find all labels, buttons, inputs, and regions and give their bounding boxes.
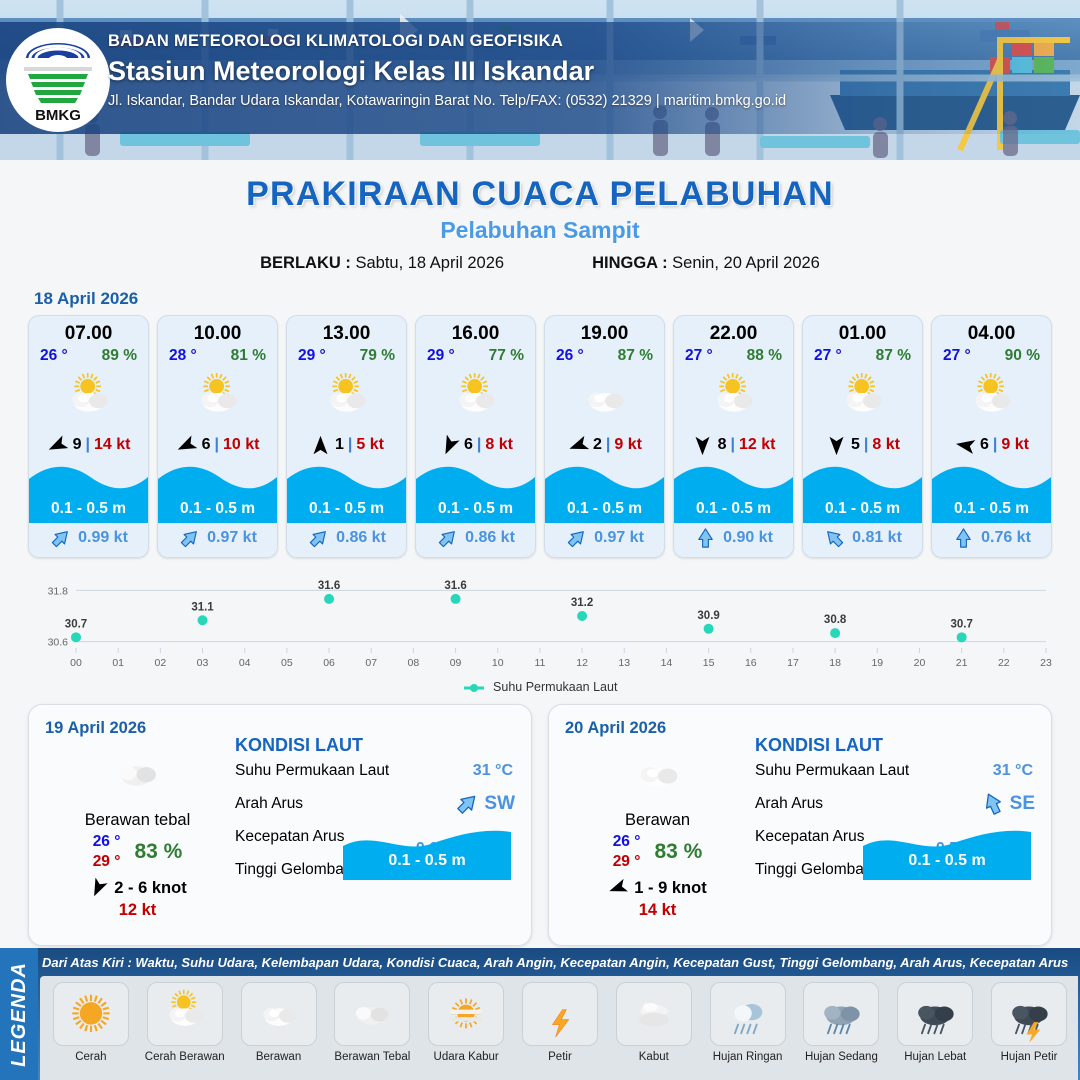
- panel-sea-block: KONDISI LAUT Suhu Permukaan Laut 31 °C A…: [755, 735, 1039, 894]
- wind-speed: 1: [335, 436, 344, 454]
- svg-text:23: 23: [1040, 657, 1052, 669]
- sea-condition-title: KONDISI LAUT: [755, 735, 1039, 756]
- temp-humidity-row: 27 ° 90 %: [932, 345, 1051, 365]
- wave-height: 0.1 - 0.5 m: [416, 500, 535, 518]
- wind-speed: 8: [718, 436, 727, 454]
- panel-condition: Berawan tebal: [45, 811, 230, 830]
- wind-separator: |: [606, 436, 610, 454]
- wind-arrow-slot: [825, 434, 847, 456]
- weather-icon-slot: [287, 367, 406, 431]
- legend-tab: LEGENDA: [0, 948, 38, 1080]
- bmkg-logo: BMKG: [6, 28, 110, 132]
- panel-weather-block: Berawan 26 ° 29 ° 83 % 1 - 9 knot 14 kt: [565, 743, 750, 920]
- cerah-berawan-icon: [704, 369, 764, 429]
- panel-temp-humidity: 26 ° 29 ° 83 %: [45, 832, 230, 872]
- berlaku-value: Sabtu, 18 April 2026: [355, 254, 504, 272]
- forecast-time: 19.00: [545, 323, 664, 345]
- weather-icon-slot: [674, 367, 793, 431]
- berawan-tebal-icon: [107, 743, 169, 805]
- svg-text:22: 22: [998, 657, 1010, 669]
- forecast-card: 01.00 27 ° 87 % 5 | 8 kt 0.1 - 0.5 m 0.8…: [802, 315, 923, 558]
- daily-panel-list: 19 April 2026 Berawan tebal 26 ° 29 ° 83…: [0, 694, 1080, 946]
- current-direction-arrow: [307, 527, 330, 550]
- panel-wind-row: 2 - 6 knot: [45, 878, 230, 898]
- wind-row: 6 | 10 kt: [158, 431, 277, 461]
- wind-separator: |: [85, 436, 89, 454]
- forecast-time: 07.00: [29, 323, 148, 345]
- berawan-icon: [251, 986, 307, 1042]
- legend-icon-tile: [428, 982, 504, 1046]
- hujan-ringan-icon: [720, 986, 776, 1042]
- temp-humidity-row: 26 ° 89 %: [29, 345, 148, 365]
- wind-direction-arrow: [310, 435, 331, 456]
- hingga-group: HINGGA : Senin, 20 April 2026: [592, 254, 820, 273]
- wind-separator: |: [477, 436, 481, 454]
- legend-item: Hujan Sedang: [797, 982, 887, 1080]
- wind-speed: 6: [202, 436, 211, 454]
- title-block: PRAKIRAAN CUACA PELABUHAN Pelabuhan Samp…: [0, 160, 1080, 273]
- wind-speed: 5: [851, 436, 860, 454]
- wind-speed: 2: [593, 436, 602, 454]
- air-temperature: 27 °: [685, 347, 713, 365]
- wind-arrow-slot: [692, 434, 714, 456]
- weather-icon-slot: [416, 367, 535, 431]
- cerah-berawan-icon: [833, 369, 893, 429]
- panel-temp-min: 26 °: [93, 832, 121, 852]
- legend-item: Berawan: [234, 982, 324, 1080]
- svg-text:02: 02: [155, 657, 167, 669]
- svg-text:19: 19: [871, 657, 883, 669]
- current-direction-arrow: [436, 527, 459, 550]
- svg-text:31.8: 31.8: [48, 585, 69, 597]
- legend-item: Hujan Petir: [984, 982, 1074, 1080]
- humidity: 90 %: [1005, 347, 1040, 365]
- wave-height: 0.1 - 0.5 m: [674, 500, 793, 518]
- sea-condition-title: KONDISI LAUT: [235, 735, 519, 756]
- forecast-card: 19.00 26 ° 87 % 2 | 9 kt 0.1 - 0.5 m 0.9…: [544, 315, 665, 558]
- gust-speed: 8 kt: [485, 436, 513, 454]
- panel-humidity: 83 %: [134, 840, 182, 864]
- svg-text:06: 06: [323, 657, 335, 669]
- air-temperature: 26 °: [556, 347, 584, 365]
- wind-speed: 9: [73, 436, 82, 454]
- wind-row: 6 | 9 kt: [932, 431, 1051, 461]
- current-dir-label: Arah Arus: [755, 795, 823, 812]
- current-dir-value-group: SE: [980, 791, 1035, 817]
- wave-zone: 0.1 - 0.5 m: [803, 461, 922, 523]
- hujan-petir-icon: [1001, 986, 1057, 1042]
- current-speed: 0.97 kt: [207, 529, 257, 547]
- svg-text:08: 08: [408, 657, 420, 669]
- wind-direction-arrow: [176, 435, 197, 456]
- current-direction-arrow: [454, 791, 480, 817]
- panel-wind-range: 1 - 9 knot: [634, 879, 706, 898]
- svg-text:09: 09: [450, 657, 462, 669]
- weather-icon-slot: [29, 367, 148, 431]
- sst-label: Suhu Permukaan Laut: [755, 762, 909, 779]
- legend-item: Hujan Lebat: [890, 982, 980, 1080]
- current-direction-arrow: [823, 527, 846, 550]
- station-address: Jl. Iskandar, Bandar Udara Iskandar, Kot…: [108, 90, 786, 112]
- svg-text:20: 20: [914, 657, 926, 669]
- hujan-lebat-icon: [907, 986, 963, 1042]
- panel-temp-max: 29 °: [93, 852, 121, 872]
- legend-item: Hujan Ringan: [703, 982, 793, 1080]
- hingga-label: HINGGA :: [592, 254, 667, 272]
- current-direction-arrow: [178, 527, 201, 550]
- svg-text:30.7: 30.7: [65, 618, 87, 630]
- svg-text:05: 05: [281, 657, 293, 669]
- current-row: 0.76 kt: [932, 523, 1051, 557]
- svg-text:30.9: 30.9: [697, 610, 719, 622]
- current-speed-label: Kecepatan Arus: [235, 828, 344, 845]
- panel-wind-row: 1 - 9 knot: [565, 878, 750, 898]
- legend-icon-tile: [803, 982, 879, 1046]
- gust-speed: 12 kt: [739, 436, 775, 454]
- current-row: 0.81 kt: [803, 523, 922, 557]
- wind-arrow-slot: [954, 434, 976, 456]
- page-title: PRAKIRAAN CUACA PELABUHAN: [0, 175, 1080, 214]
- legend-icon-tile: [616, 982, 692, 1046]
- svg-text:31.2: 31.2: [571, 597, 593, 609]
- legend-item-label: Hujan Lebat: [890, 1051, 980, 1063]
- agency-name: BADAN METEOROLOGI KLIMATOLOGI DAN GEOFIS…: [108, 30, 786, 52]
- legend-item-label: Udara Kabur: [421, 1051, 511, 1063]
- panel-temp-column: 26 ° 29 °: [613, 832, 641, 872]
- wind-direction-arrow: [826, 435, 847, 456]
- panel-wave-box: 0.1 - 0.5 m: [343, 828, 511, 880]
- wave-height: 0.1 - 0.5 m: [545, 500, 664, 518]
- current-speed: 0.81 kt: [852, 529, 902, 547]
- legend-icon-tile: [991, 982, 1067, 1046]
- legend-item-label: Cerah: [46, 1051, 136, 1063]
- wind-row: 6 | 8 kt: [416, 431, 535, 461]
- current-speed: 0.97 kt: [594, 529, 644, 547]
- berlaku-group: BERLAKU : Sabtu, 18 April 2026: [260, 254, 504, 273]
- wind-arrow-slot: [438, 434, 460, 456]
- current-speed: 0.99 kt: [78, 529, 128, 547]
- svg-text:11: 11: [534, 657, 545, 669]
- page-header: BMKG BADAN METEOROLOGI KLIMATOLOGI DAN G…: [0, 0, 1080, 160]
- wind-arrow-slot: [567, 434, 589, 456]
- forecast-card: 16.00 29 ° 77 % 6 | 8 kt 0.1 - 0.5 m 0.8…: [415, 315, 536, 558]
- temp-humidity-row: 26 ° 87 %: [545, 345, 664, 365]
- wave-zone: 0.1 - 0.5 m: [545, 461, 664, 523]
- gust-speed: 5 kt: [356, 436, 384, 454]
- current-row: 0.90 kt: [674, 523, 793, 557]
- forecast-time: 13.00: [287, 323, 406, 345]
- svg-text:30.7: 30.7: [950, 618, 972, 630]
- legend-item-label: Petir: [515, 1051, 605, 1063]
- wave-height: 0.1 - 0.5 m: [287, 500, 406, 518]
- day1-date: 18 April 2026: [34, 289, 1080, 309]
- panel-temp-max: 29 °: [613, 852, 641, 872]
- gust-speed: 9 kt: [1001, 436, 1029, 454]
- panel-humidity: 83 %: [654, 840, 702, 864]
- berlaku-label: BERLAKU :: [260, 254, 351, 272]
- panel-weather-block: Berawan tebal 26 ° 29 ° 83 % 2 - 6 knot …: [45, 743, 230, 920]
- air-temperature: 26 °: [40, 347, 68, 365]
- kabut-icon: [626, 986, 682, 1042]
- svg-text:03: 03: [197, 657, 209, 669]
- forecast-time: 22.00: [674, 323, 793, 345]
- legend-item-label: Kabut: [609, 1051, 699, 1063]
- wind-separator: |: [214, 436, 218, 454]
- forecast-time: 01.00: [803, 323, 922, 345]
- wave-height: 0.1 - 0.5 m: [932, 500, 1051, 518]
- wind-row: 2 | 9 kt: [545, 431, 664, 461]
- gust-speed: 8 kt: [872, 436, 900, 454]
- current-speed-label: Kecepatan Arus: [755, 828, 864, 845]
- svg-text:30.8: 30.8: [824, 614, 847, 626]
- legend-icon-tile: [147, 982, 223, 1046]
- legend-item: Berawan Tebal: [327, 982, 417, 1080]
- temp-humidity-row: 27 ° 88 %: [674, 345, 793, 365]
- gust-speed: 9 kt: [614, 436, 642, 454]
- svg-text:21: 21: [956, 657, 968, 669]
- daily-panel: 20 April 2026 Berawan 26 ° 29 ° 83 % 1 -…: [548, 704, 1052, 946]
- wind-direction-arrow: [439, 435, 460, 456]
- wind-direction-arrow: [955, 435, 976, 456]
- humidity: 79 %: [360, 347, 395, 365]
- sea-row-current-dir: Arah Arus SW: [235, 795, 519, 828]
- panel-weather-icon-slot: [45, 743, 230, 805]
- humidity: 88 %: [747, 347, 782, 365]
- sea-row-current-dir: Arah Arus SE: [755, 795, 1039, 828]
- wave-zone: 0.1 - 0.5 m: [932, 461, 1051, 523]
- legend-item-label: Berawan: [234, 1051, 324, 1063]
- legend-item: Cerah Berawan: [140, 982, 230, 1080]
- legend-section: LEGENDA Dari Atas Kiri : Waktu, Suhu Uda…: [0, 948, 1080, 1080]
- wind-separator: |: [993, 436, 997, 454]
- cerah-berawan-icon: [59, 369, 119, 429]
- hujan-sedang-icon: [813, 986, 869, 1042]
- legend-item-label: Hujan Sedang: [797, 1051, 887, 1063]
- current-dir-value-group: SW: [454, 791, 515, 817]
- weather-icon-slot: [545, 367, 664, 431]
- legend-item-label: Hujan Petir: [984, 1051, 1074, 1063]
- svg-text:18: 18: [829, 657, 841, 669]
- page-subtitle: Pelabuhan Sampit: [0, 217, 1080, 244]
- svg-text:04: 04: [239, 657, 251, 669]
- panel-weather-icon-slot: [565, 743, 750, 805]
- temp-humidity-row: 28 ° 81 %: [158, 345, 277, 365]
- svg-text:01: 01: [112, 657, 124, 669]
- wave-zone: 0.1 - 0.5 m: [674, 461, 793, 523]
- svg-text:31.1: 31.1: [191, 601, 214, 613]
- panel-temp-min: 26 °: [613, 832, 641, 852]
- berawan-icon: [627, 743, 689, 805]
- legend-icon-tile: [53, 982, 129, 1046]
- wave-zone: 0.1 - 0.5 m: [416, 461, 535, 523]
- svg-text:00: 00: [70, 657, 82, 669]
- wind-direction-arrow: [692, 435, 713, 456]
- current-speed: 0.76 kt: [981, 529, 1031, 547]
- forecast-time: 04.00: [932, 323, 1051, 345]
- udara-kabur-icon: [438, 986, 494, 1042]
- humidity: 89 %: [102, 347, 137, 365]
- current-direction-arrow: [565, 527, 588, 550]
- gust-speed: 14 kt: [94, 436, 130, 454]
- current-row: 0.86 kt: [287, 523, 406, 557]
- panel-gust: 14 kt: [565, 901, 750, 920]
- wind-direction-arrow: [608, 878, 628, 898]
- panel-temp-column: 26 ° 29 °: [93, 832, 121, 872]
- wave-height: 0.1 - 0.5 m: [158, 500, 277, 518]
- current-row: 0.97 kt: [545, 523, 664, 557]
- sst-label: Suhu Permukaan Laut: [235, 762, 389, 779]
- air-temperature: 29 °: [427, 347, 455, 365]
- panel-wave-value: 0.1 - 0.5 m: [343, 852, 511, 870]
- svg-text:14: 14: [661, 657, 673, 669]
- wind-arrow-slot: [176, 434, 198, 456]
- weather-icon-slot: [803, 367, 922, 431]
- wind-separator: |: [730, 436, 734, 454]
- sst-value: 31 °C: [993, 762, 1033, 780]
- wind-row: 5 | 8 kt: [803, 431, 922, 461]
- forecast-card: 22.00 27 ° 88 % 8 | 12 kt 0.1 - 0.5 m 0.…: [673, 315, 794, 558]
- current-direction-arrow: [694, 527, 717, 550]
- wind-speed: 6: [464, 436, 473, 454]
- wind-direction-arrow: [47, 435, 68, 456]
- legend-icon-tile: [897, 982, 973, 1046]
- wind-speed: 6: [980, 436, 989, 454]
- legend-item-label: Hujan Ringan: [703, 1051, 793, 1063]
- air-temperature: 28 °: [169, 347, 197, 365]
- wind-row: 1 | 5 kt: [287, 431, 406, 461]
- wave-height: 0.1 - 0.5 m: [29, 500, 148, 518]
- wind-row: 9 | 14 kt: [29, 431, 148, 461]
- temp-humidity-row: 29 ° 77 %: [416, 345, 535, 365]
- current-dir-label: Arah Arus: [235, 795, 303, 812]
- validity-row: BERLAKU : Sabtu, 18 April 2026 HINGGA : …: [0, 254, 1080, 273]
- current-speed: 0.90 kt: [723, 529, 773, 547]
- wind-direction-arrow: [568, 435, 589, 456]
- sst-legend-marker: [463, 683, 485, 693]
- humidity: 77 %: [489, 347, 524, 365]
- cerah-berawan-icon: [157, 986, 213, 1042]
- svg-text:31.6: 31.6: [444, 580, 466, 592]
- legend-tab-label: LEGENDA: [8, 962, 31, 1067]
- cerah-icon: [63, 986, 119, 1042]
- panel-gust: 12 kt: [45, 901, 230, 920]
- weather-icon-slot: [158, 367, 277, 431]
- svg-text:30.6: 30.6: [48, 637, 69, 649]
- air-temperature: 29 °: [298, 347, 326, 365]
- svg-text:07: 07: [365, 657, 377, 669]
- svg-text:13: 13: [618, 657, 630, 669]
- berawan-tebal-icon: [344, 986, 400, 1042]
- svg-text:10: 10: [492, 657, 504, 669]
- hingga-value: Senin, 20 April 2026: [672, 254, 820, 272]
- bmkg-logo-mark: BMKG: [16, 36, 100, 124]
- forecast-time: 16.00: [416, 323, 535, 345]
- current-direction-arrow: [49, 527, 72, 550]
- temp-humidity-row: 29 ° 79 %: [287, 345, 406, 365]
- air-temperature: 27 °: [943, 347, 971, 365]
- sst-value: 31 °C: [473, 762, 513, 780]
- legend-item-label: Cerah Berawan: [140, 1051, 230, 1063]
- svg-text:16: 16: [745, 657, 757, 669]
- wind-row: 8 | 12 kt: [674, 431, 793, 461]
- legend-item-label: Berawan Tebal: [327, 1051, 417, 1063]
- cerah-berawan-icon: [317, 369, 377, 429]
- wind-arrow-slot: [309, 434, 331, 456]
- gust-speed: 10 kt: [223, 436, 259, 454]
- panel-condition: Berawan: [565, 811, 750, 830]
- weather-icon-slot: [932, 367, 1051, 431]
- panel-wave-box: 0.1 - 0.5 m: [863, 828, 1031, 880]
- svg-text:31.6: 31.6: [318, 580, 340, 592]
- humidity: 81 %: [231, 347, 266, 365]
- current-direction-arrow: [952, 527, 975, 550]
- legend-icon-tile: [241, 982, 317, 1046]
- humidity: 87 %: [618, 347, 653, 365]
- current-row: 0.86 kt: [416, 523, 535, 557]
- legend-item: Udara Kabur: [421, 982, 511, 1080]
- forecast-card: 04.00 27 ° 90 % 6 | 9 kt 0.1 - 0.5 m 0.7…: [931, 315, 1052, 558]
- legend-item: Kabut: [609, 982, 699, 1080]
- legend-icon-tile: [710, 982, 786, 1046]
- legend-item: Cerah: [46, 982, 136, 1080]
- wave-zone: 0.1 - 0.5 m: [287, 461, 406, 523]
- svg-text:15: 15: [703, 657, 715, 669]
- humidity: 87 %: [876, 347, 911, 365]
- berawan-icon: [575, 369, 635, 429]
- current-speed: 0.86 kt: [465, 529, 515, 547]
- wind-separator: |: [348, 436, 352, 454]
- current-direction-arrow: [980, 791, 1006, 817]
- forecast-card: 07.00 26 ° 89 % 9 | 14 kt 0.1 - 0.5 m 0.…: [28, 315, 149, 558]
- panel-temp-humidity: 26 ° 29 ° 83 %: [565, 832, 750, 872]
- legend-icon-strip: Cerah Cerah Berawan Berawan Berawan Teba…: [40, 976, 1078, 1080]
- wave-zone: 0.1 - 0.5 m: [158, 461, 277, 523]
- svg-text:12: 12: [576, 657, 588, 669]
- forecast-card: 10.00 28 ° 81 % 6 | 10 kt 0.1 - 0.5 m 0.…: [157, 315, 278, 558]
- temp-humidity-row: 27 ° 87 %: [803, 345, 922, 365]
- wind-direction-arrow: [88, 878, 108, 898]
- current-dir-value: SW: [484, 793, 515, 815]
- petir-icon: [532, 986, 588, 1042]
- forecast-card: 13.00 29 ° 79 % 1 | 5 kt 0.1 - 0.5 m 0.8…: [286, 315, 407, 558]
- wave-height: 0.1 - 0.5 m: [803, 500, 922, 518]
- svg-text:17: 17: [787, 657, 799, 669]
- forecast-time: 10.00: [158, 323, 277, 345]
- cerah-berawan-icon: [446, 369, 506, 429]
- daily-panel: 19 April 2026 Berawan tebal 26 ° 29 ° 83…: [28, 704, 532, 946]
- station-name: Stasiun Meteorologi Kelas III Iskandar: [108, 52, 786, 90]
- legend-note: Dari Atas Kiri : Waktu, Suhu Udara, Kele…: [42, 955, 1074, 970]
- svg-text:BMKG: BMKG: [35, 107, 81, 124]
- legend-icon-tile: [334, 982, 410, 1046]
- air-temperature: 27 °: [814, 347, 842, 365]
- panel-wave-value: 0.1 - 0.5 m: [863, 852, 1031, 870]
- current-row: 0.97 kt: [158, 523, 277, 557]
- current-dir-value: SE: [1010, 793, 1035, 815]
- legend-item: Petir: [515, 982, 605, 1080]
- sst-chart: 30.631.800010203040506070809101112131415…: [24, 572, 1056, 684]
- legend-icon-tile: [522, 982, 598, 1046]
- wave-zone: 0.1 - 0.5 m: [29, 461, 148, 523]
- panel-sea-block: KONDISI LAUT Suhu Permukaan Laut 31 °C A…: [235, 735, 519, 894]
- forecast-card-list: 07.00 26 ° 89 % 9 | 14 kt 0.1 - 0.5 m 0.…: [0, 315, 1080, 558]
- wind-separator: |: [864, 436, 868, 454]
- current-row: 0.99 kt: [29, 523, 148, 557]
- panel-wind-range: 2 - 6 knot: [114, 879, 186, 898]
- cerah-berawan-icon: [962, 369, 1022, 429]
- current-speed: 0.86 kt: [336, 529, 386, 547]
- cerah-berawan-icon: [188, 369, 248, 429]
